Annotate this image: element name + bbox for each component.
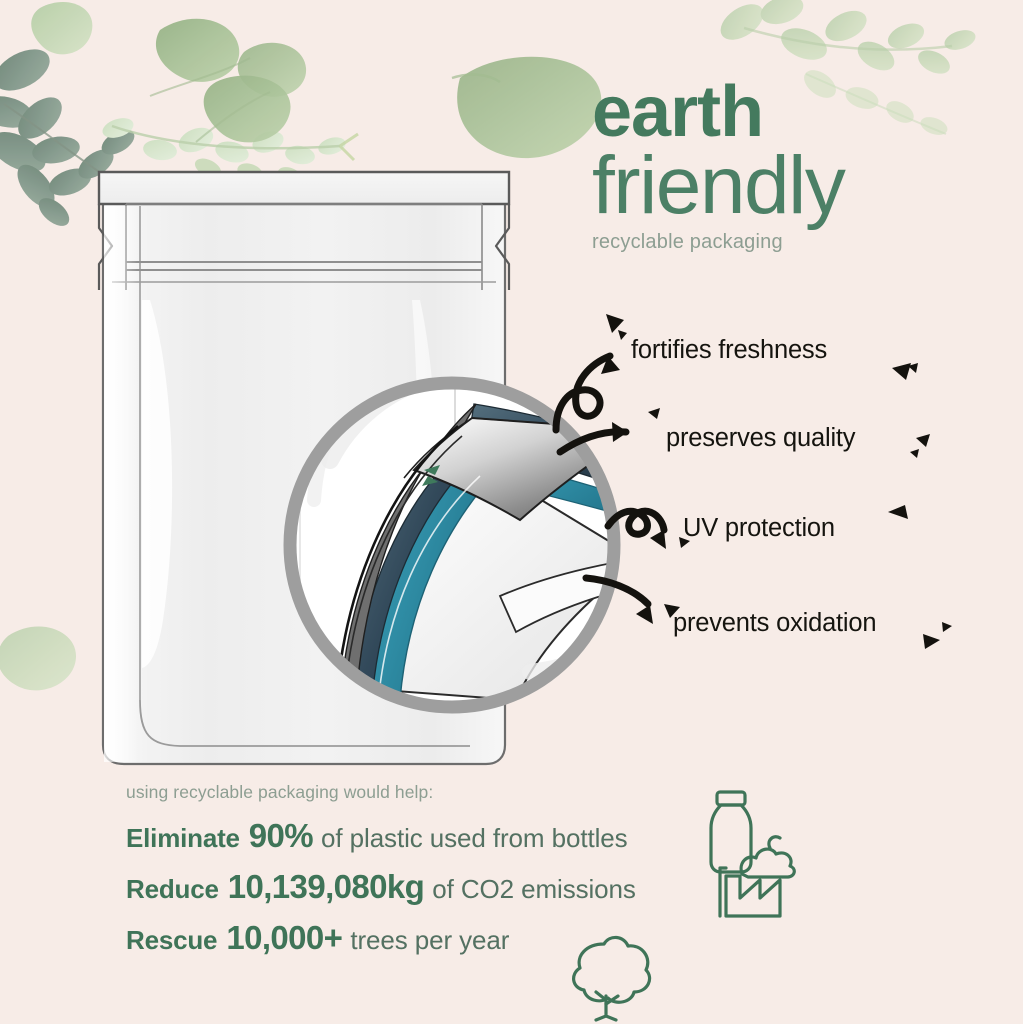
tree-icon <box>574 937 650 1020</box>
stat-icons <box>0 0 1023 1024</box>
factory-icon <box>720 837 794 916</box>
infographic-canvas: earth friendly recyclable packaging fort… <box>0 0 1023 1024</box>
